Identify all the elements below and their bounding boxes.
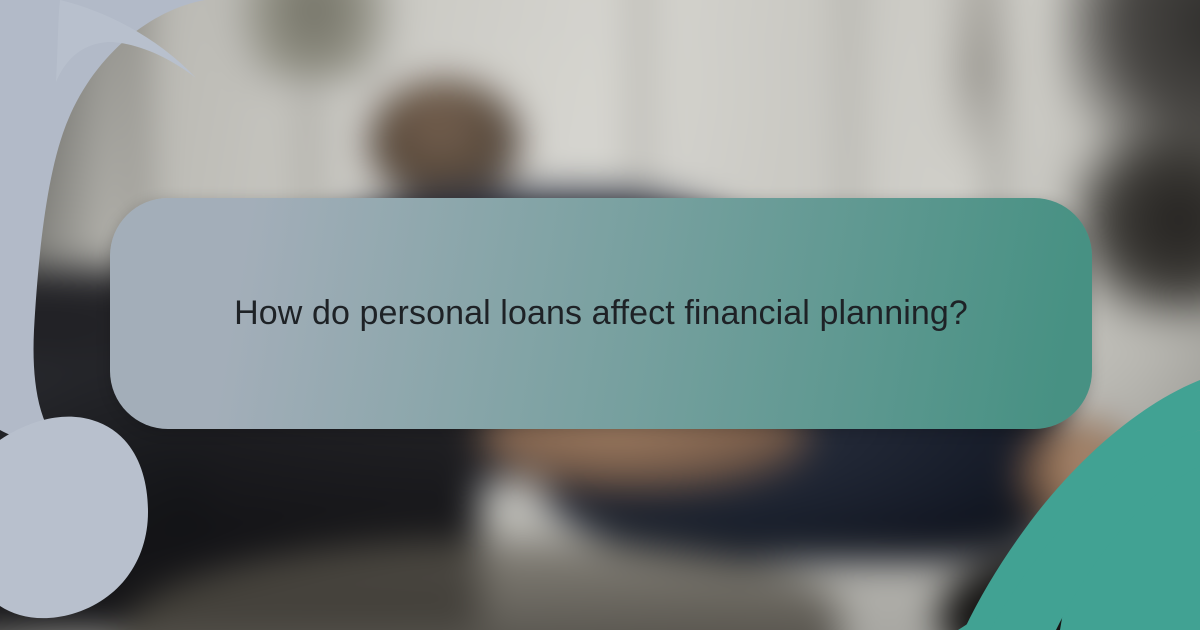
screenshot-canvas: How do personal loans affect financial p… <box>0 0 1200 630</box>
question-text: How do personal loans affect financial p… <box>200 286 1002 340</box>
question-card: How do personal loans affect financial p… <box>110 198 1092 429</box>
